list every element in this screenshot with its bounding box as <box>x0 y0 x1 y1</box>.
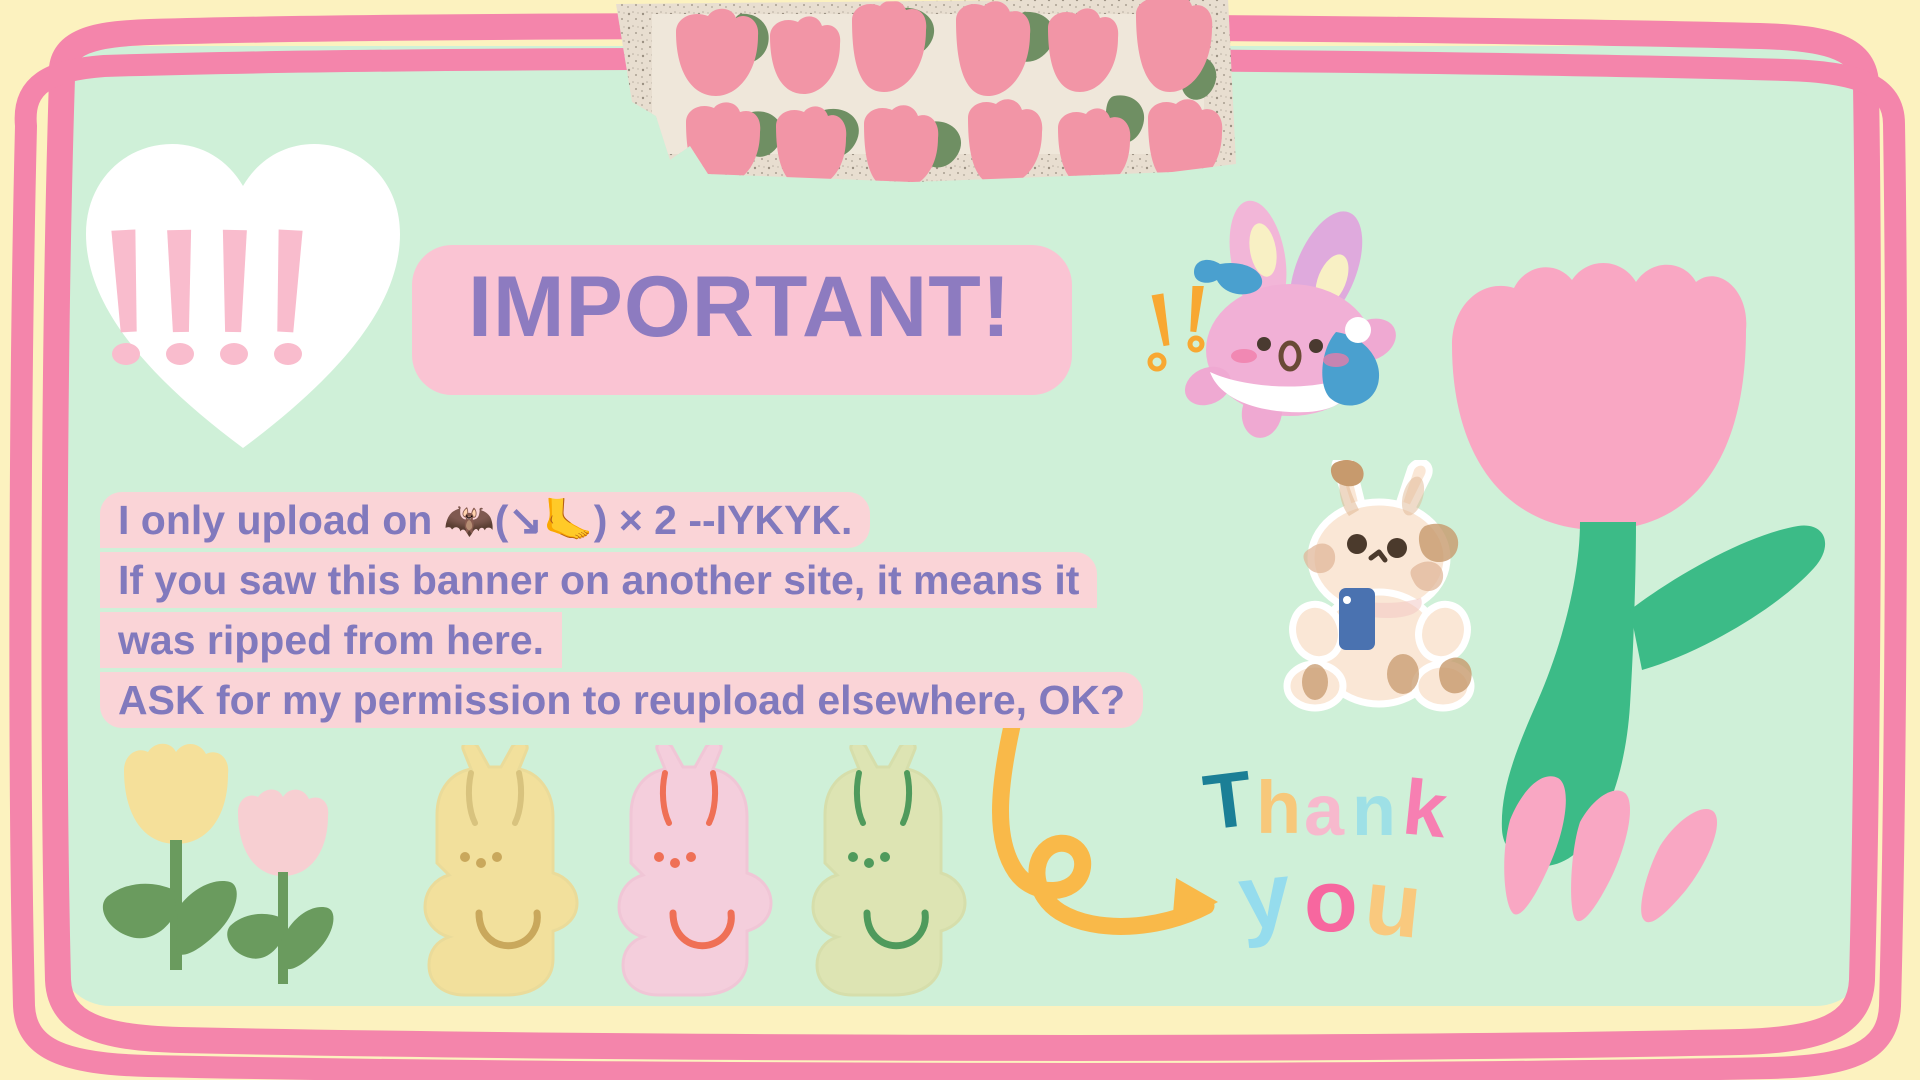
svg-text:h: h <box>1256 766 1301 849</box>
phone-bunny-illustration <box>1275 460 1485 715</box>
svg-text:k: k <box>1399 762 1452 854</box>
body-text-block: I only upload on 🦇(↘🦶) × 2 --IYKYK. If y… <box>100 490 1143 730</box>
exclamation-marks-icon <box>1138 286 1218 406</box>
svg-text:n: n <box>1352 771 1396 851</box>
body-line-2: If you saw this banner on another site, … <box>100 550 1097 610</box>
svg-text:T: T <box>1200 755 1257 847</box>
svg-text:a: a <box>1304 771 1345 851</box>
body-line-4: ASK for my permission to reupload elsewh… <box>100 670 1143 730</box>
heart-with-exclamations-icon <box>78 130 408 460</box>
banner-canvas: T h a n k y o u <box>0 0 1920 1080</box>
thank-you-lettering: T h a n k y o u <box>1200 755 1500 955</box>
body-line-3: was ripped from here. <box>100 610 562 670</box>
svg-text:y: y <box>1234 843 1296 950</box>
washi-tape-decoration <box>612 0 1240 186</box>
body-line-1: I only upload on 🦇(↘🦶) × 2 --IYKYK. <box>100 490 870 550</box>
page-title: IMPORTANT! <box>468 252 1011 362</box>
svg-text:u: u <box>1360 851 1427 955</box>
gummy-bunnies-illustration <box>395 745 1015 1005</box>
svg-text:o: o <box>1304 851 1358 950</box>
small-tulips-illustration <box>90 740 380 1006</box>
